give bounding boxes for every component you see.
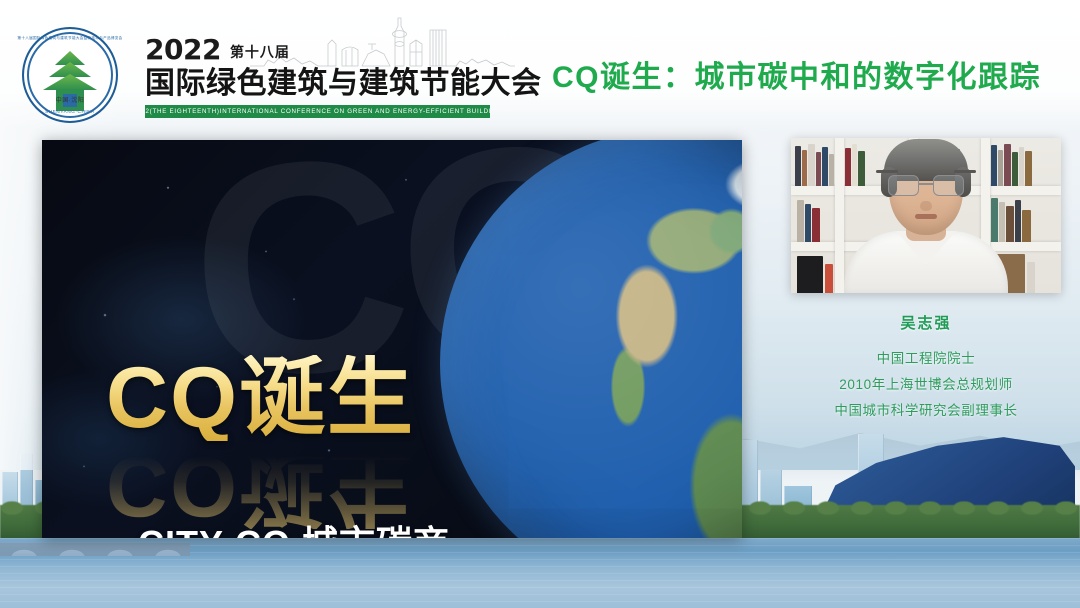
- speaker-mouth: [915, 214, 937, 219]
- slide-title-group: CQ诞生 CQ诞生: [106, 355, 506, 529]
- emblem-city-en: SHENYANG·CHINA: [45, 109, 95, 114]
- conference-header: 第十八届国际绿色建筑与建筑节能大会暨新技术与产品博览会 中国·沈阳 SHENYA…: [0, 0, 1080, 128]
- speaker-title-3: 中国城市科学研究会副理事长: [791, 399, 1061, 419]
- conference-name-en-banner: 2022(THE EIGHTEENTH)INTERNATIONAL CONFER…: [145, 105, 490, 118]
- glasses-icon: [888, 175, 964, 197]
- conference-year-line: 2022 第十八届: [145, 32, 505, 64]
- speaker-nose: [920, 201, 932, 211]
- conference-name-en: 2022(THE EIGHTEENTH)INTERNATIONAL CONFER…: [145, 108, 490, 115]
- speaker-eyebrow-right: [954, 170, 976, 173]
- speaker-video-feed[interactable]: [791, 138, 1061, 293]
- speaker-info-block: 吴志强 中国工程院院士 2010年上海世博会总规划师 中国城市科学研究会副理事长: [791, 312, 1061, 419]
- slide-subtitle: CITY-CQ 城市碳商: [138, 515, 450, 538]
- speaker-name: 吴志强: [791, 312, 1061, 333]
- pagoda-emblem-icon: 第十八届国际绿色建筑与建筑节能大会暨新技术与产品博览会 中国·沈阳 SHENYA…: [22, 27, 118, 123]
- speaker-title-2: 2010年上海世博会总规划师: [791, 373, 1061, 393]
- speaker-title-1: 中国工程院院士: [791, 347, 1061, 367]
- speaker-eyebrow-left: [876, 170, 898, 173]
- conference-title-block: 2022 第十八届 国际绿色建筑与建筑节能大会 2022(THE EIGHTEE…: [145, 32, 505, 118]
- conference-year: 2022: [145, 36, 221, 64]
- presentation-slide[interactable]: CQ CQ诞生 CQ诞生 CITY-CQ 城市碳商: [42, 140, 742, 538]
- conference-edition: 第十八届: [230, 42, 290, 64]
- speaker-figure: [844, 185, 1008, 293]
- slide-title: CQ诞生: [106, 355, 506, 441]
- emblem-ring-text: 第十八届国际绿色建筑与建筑节能大会暨新技术与产品博览会: [17, 36, 122, 41]
- emblem-city-cn: 中国·沈阳: [56, 95, 85, 104]
- page-title: CQ诞生：城市碳中和的数字化跟踪: [552, 52, 1041, 96]
- conference-name-cn: 国际绿色建筑与建筑节能大会: [145, 68, 505, 100]
